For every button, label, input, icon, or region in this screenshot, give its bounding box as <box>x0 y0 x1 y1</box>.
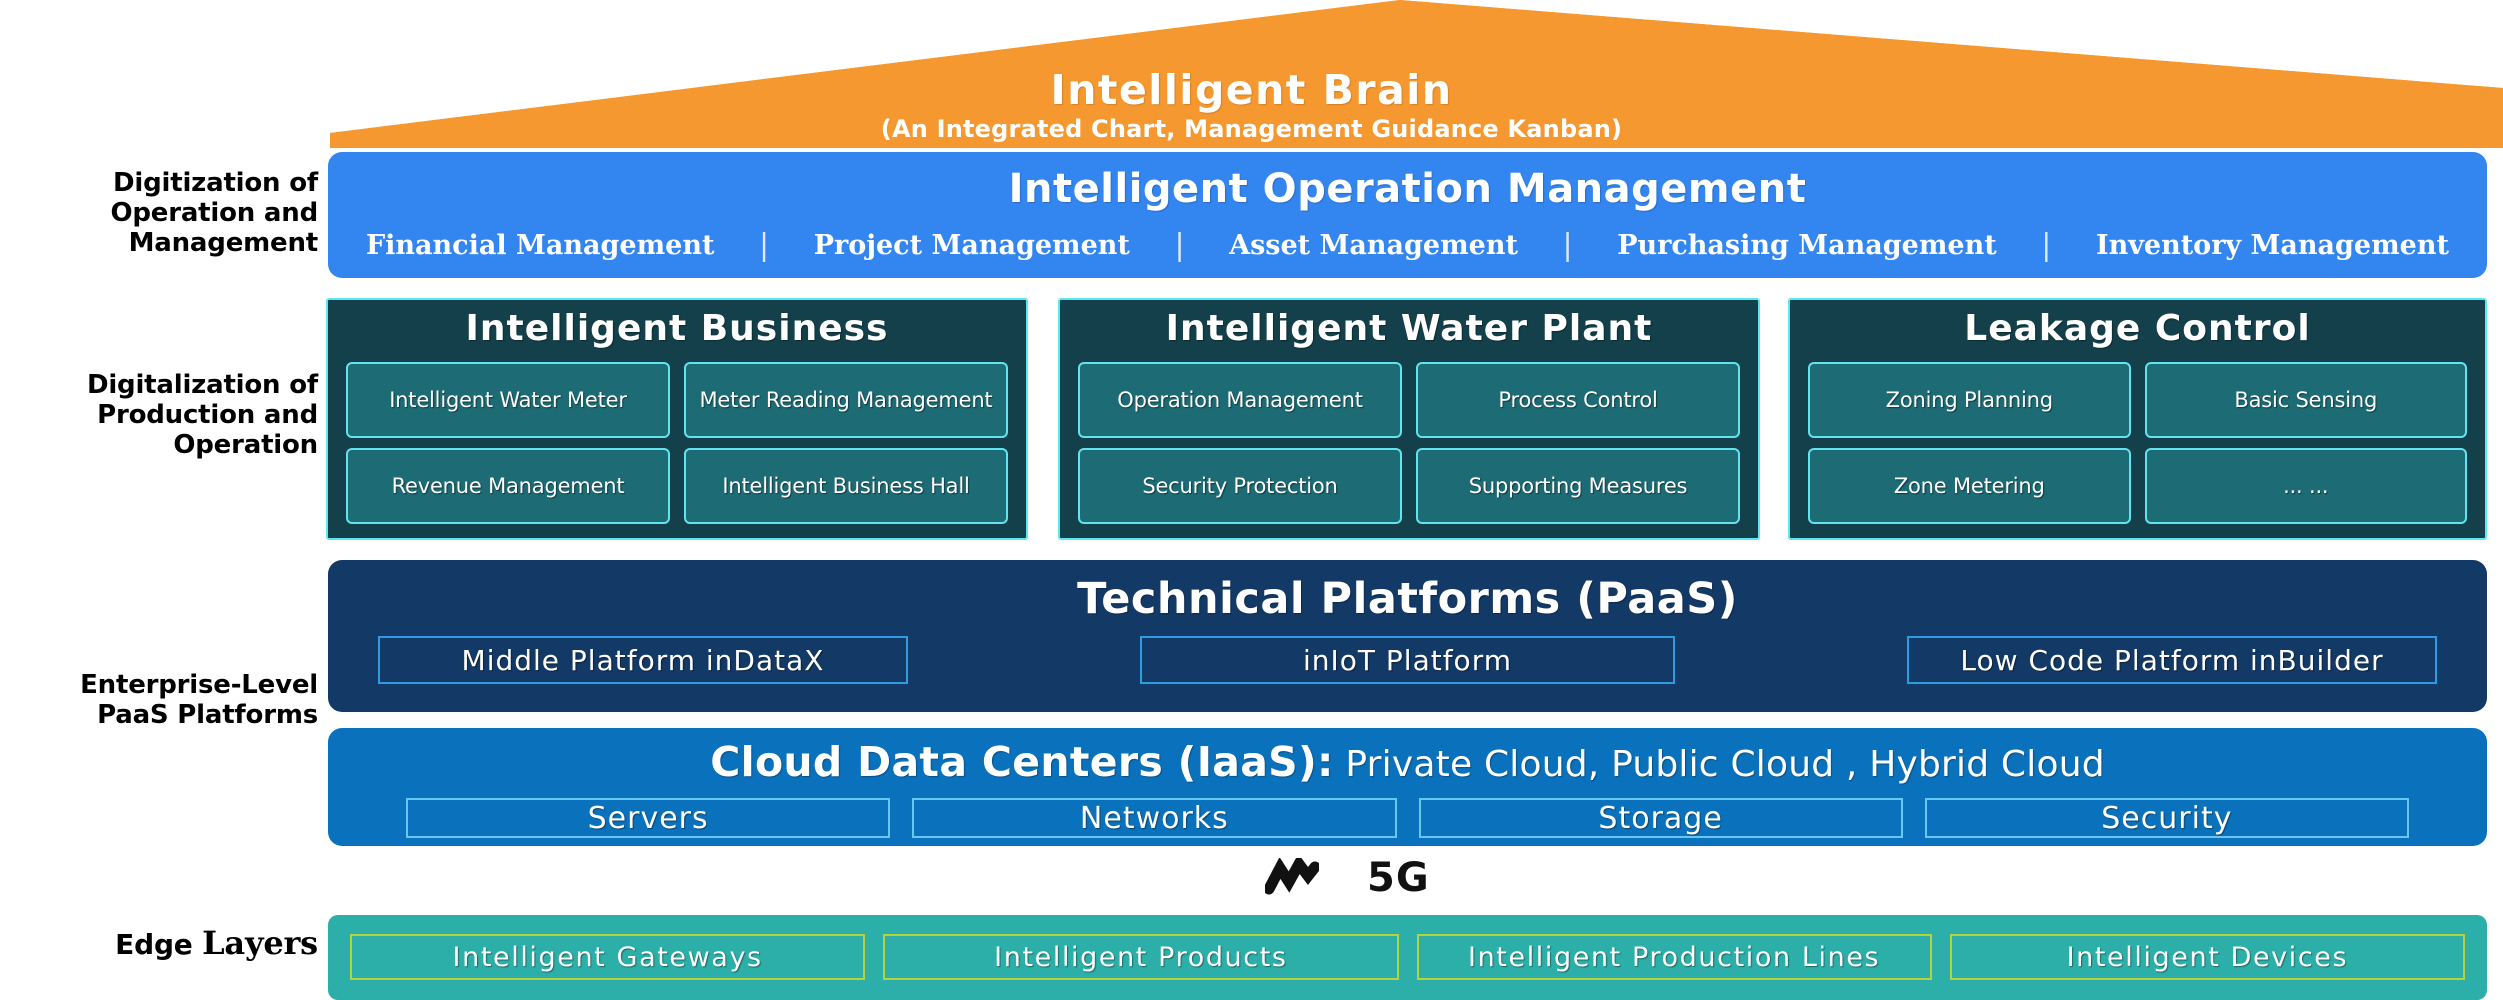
roof-title: Intelligent Brain <box>1050 69 1452 112</box>
ops-band-items: Financial Management | Project Managemen… <box>366 228 2449 263</box>
edge-chip-intelligent-devices[interactable]: Intelligent Devices <box>1950 934 2465 980</box>
ops-separator-1: | <box>757 228 771 263</box>
rail-label-edge-layers: Edge Layers <box>40 925 318 962</box>
chip-intelligent-business-hall[interactable]: Intelligent Business Hall <box>684 448 1008 524</box>
card-intelligent-water-plant[interactable]: Intelligent Water Plant Operation Manage… <box>1058 298 1760 540</box>
chip-operation-management[interactable]: Operation Management <box>1078 362 1402 438</box>
rail-label-edge-suffix: Layers <box>202 924 318 962</box>
ops-item-project-management[interactable]: Project Management <box>814 230 1130 261</box>
paas-band-chips: Middle Platform inDataX inIoT Platform L… <box>378 636 2437 684</box>
iaas-chip-servers[interactable]: Servers <box>406 798 890 838</box>
iaas-title-light: Private Cloud, Public Cloud , Hybrid Clo… <box>1334 744 2105 785</box>
iaas-chip-storage[interactable]: Storage <box>1419 798 1903 838</box>
chip-revenue-management[interactable]: Revenue Management <box>346 448 670 524</box>
card-intelligent-water-plant-title: Intelligent Water Plant <box>1060 308 1758 349</box>
ops-item-purchasing-management[interactable]: Purchasing Management <box>1617 230 1997 261</box>
edge-chip-intelligent-production-lines[interactable]: Intelligent Production Lines <box>1417 934 1932 980</box>
ops-separator-2: | <box>1172 228 1186 263</box>
rail-label-production-operation: Digitalization of Production and Operati… <box>40 370 318 460</box>
technical-platforms-paas-band[interactable]: Technical Platforms (PaaS) Middle Platfo… <box>328 560 2487 712</box>
intelligent-operation-management-band[interactable]: Intelligent Operation Management Financi… <box>328 152 2487 278</box>
iaas-title-strong: Cloud Data Centers (IaaS): <box>710 738 1334 786</box>
chip-zone-metering[interactable]: Zone Metering <box>1808 448 2131 524</box>
card-intelligent-business[interactable]: Intelligent Business Intelligent Water M… <box>326 298 1028 540</box>
chip-supporting-measures[interactable]: Supporting Measures <box>1416 448 1740 524</box>
card-leakage-control-title: Leakage Control <box>1790 308 2485 349</box>
ops-separator-3: | <box>1561 228 1575 263</box>
card-intelligent-business-grid: Intelligent Water Meter Meter Reading Ma… <box>346 362 1008 524</box>
card-leakage-control-grid: Zoning Planning Basic Sensing Zone Meter… <box>1808 362 2467 524</box>
paas-band-title: Technical Platforms (PaaS) <box>328 574 2487 624</box>
roof-subtitle: (An Integrated Chart, Management Guidanc… <box>881 116 1622 142</box>
chip-leakage-more[interactable]: ... ... <box>2145 448 2468 524</box>
paas-chip-iniot-platform[interactable]: inIoT Platform <box>1140 636 1675 684</box>
chip-meter-reading-management[interactable]: Meter Reading Management <box>684 362 1008 438</box>
intelligent-brain-roof: Intelligent Brain (An Integrated Chart, … <box>0 0 2503 148</box>
edge-band-chips: Intelligent Gateways Intelligent Product… <box>350 934 2465 980</box>
ops-item-financial-management[interactable]: Financial Management <box>366 230 714 261</box>
chip-zoning-planning[interactable]: Zoning Planning <box>1808 362 2131 438</box>
paas-chip-middle-platform-indatax[interactable]: Middle Platform inDataX <box>378 636 908 684</box>
chip-security-protection[interactable]: Security Protection <box>1078 448 1402 524</box>
card-intelligent-business-title: Intelligent Business <box>328 308 1026 349</box>
edge-layers-band[interactable]: Intelligent Gateways Intelligent Product… <box>328 915 2487 1000</box>
rail-label-paas-platforms: Enterprise-Level PaaS Platforms <box>40 670 318 730</box>
architecture-diagram: Intelligent Brain (An Integrated Chart, … <box>0 0 2503 1000</box>
paas-chip-low-code-platform-inbuilder[interactable]: Low Code Platform inBuilder <box>1907 636 2437 684</box>
signal-zigzag-icon <box>1265 858 1319 898</box>
chip-basic-sensing[interactable]: Basic Sensing <box>2145 362 2468 438</box>
edge-chip-intelligent-gateways[interactable]: Intelligent Gateways <box>350 934 865 980</box>
ops-band-title: Intelligent Operation Management <box>328 166 2487 212</box>
iaas-chip-security[interactable]: Security <box>1925 798 2409 838</box>
ops-separator-4: | <box>2039 228 2053 263</box>
iaas-band-title: Cloud Data Centers (IaaS): Private Cloud… <box>328 738 2487 786</box>
ops-item-inventory-management[interactable]: Inventory Management <box>2096 230 2449 261</box>
connectivity-5g-strip: 5G <box>1265 850 1430 906</box>
iaas-chip-networks[interactable]: Networks <box>912 798 1396 838</box>
rail-label-operation-management: Digitization of Operation and Management <box>60 168 318 258</box>
card-leakage-control[interactable]: Leakage Control Zoning Planning Basic Se… <box>1788 298 2487 540</box>
cloud-data-centers-iaas-band[interactable]: Cloud Data Centers (IaaS): Private Cloud… <box>328 728 2487 846</box>
ops-item-asset-management[interactable]: Asset Management <box>1229 230 1518 261</box>
card-intelligent-water-plant-grid: Operation Management Process Control Sec… <box>1078 362 1740 524</box>
edge-chip-intelligent-products[interactable]: Intelligent Products <box>883 934 1398 980</box>
connectivity-5g-label: 5G <box>1367 855 1430 901</box>
iaas-band-chips: Servers Networks Storage Security <box>406 798 2409 838</box>
rail-label-edge-prefix: Edge <box>115 928 202 961</box>
chip-intelligent-water-meter[interactable]: Intelligent Water Meter <box>346 362 670 438</box>
chip-process-control[interactable]: Process Control <box>1416 362 1740 438</box>
